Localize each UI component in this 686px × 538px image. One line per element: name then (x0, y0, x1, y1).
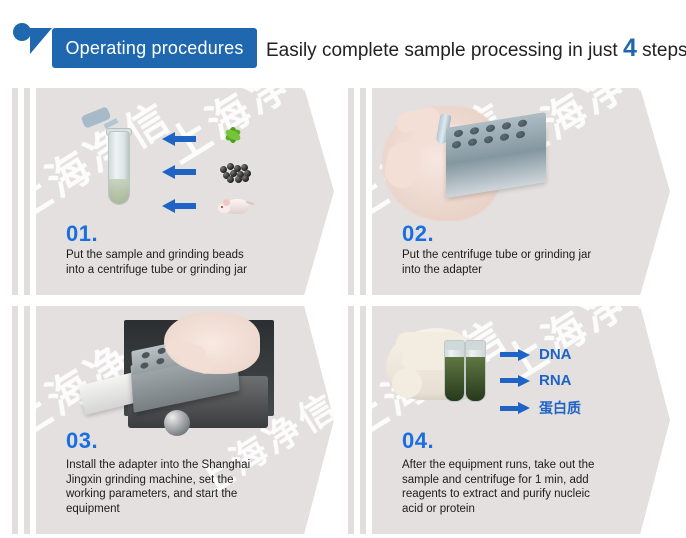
step-description-02: Put the centrifuge tube or grinding jar … (402, 248, 652, 277)
leaf-icon (218, 124, 248, 152)
accent-bar-outer (348, 88, 354, 295)
step-panel-01: 上海净信 上海净信 (36, 88, 334, 295)
sample-vial-icon (444, 340, 465, 402)
hand-icon (164, 312, 260, 374)
arrow-left-icon (162, 165, 196, 178)
operating-procedures-infographic: Operating procedures Easily complete sam… (0, 0, 686, 538)
step-number-03: 03. (66, 428, 98, 454)
accent-bar-inner (360, 88, 366, 295)
header-subtitle: Easily complete sample processing in jus… (266, 30, 686, 69)
step-description-03: Install the adapter into the Shanghai Ji… (66, 458, 306, 516)
step-card-02: 上海净信 上海净信 (348, 88, 670, 295)
grinding-beads-icon (218, 160, 252, 182)
output-label-protein: 蛋白质 (539, 398, 581, 418)
step-description-04: After the equipment runs, take out the s… (402, 458, 652, 516)
step-number-01: 01. (66, 221, 98, 247)
output-label-rna: RNA (539, 372, 572, 389)
input-row-plant (162, 124, 248, 152)
arrow-left-icon (162, 199, 196, 212)
steps-grid: 上海净信 上海净信 (0, 84, 686, 538)
output-row-dna: DNA (500, 346, 572, 363)
output-row-rna: RNA (500, 372, 572, 389)
step-panel-03: 上海净信 上海净信 (36, 306, 334, 534)
step-description-01: Put the sample and grinding beads into a… (66, 248, 316, 277)
header-dot-icon (13, 23, 31, 41)
arrow-right-icon (500, 402, 530, 414)
input-row-beads (162, 160, 252, 182)
accent-bar-outer (12, 306, 18, 534)
output-label-dna: DNA (539, 346, 572, 363)
step-card-03: 上海净信 上海净信 (12, 306, 334, 534)
header-subtitle-post: steps: (637, 40, 686, 61)
step-number-04: 04. (402, 428, 434, 454)
header-subtitle-pre: Easily complete sample processing in jus… (266, 40, 623, 61)
mouse-icon (218, 194, 252, 216)
step-card-01: 上海净信 上海净信 (12, 88, 334, 295)
arrow-right-icon (500, 375, 530, 387)
step-panel-04: 上海净信 上海净信 DNA RNA (372, 306, 670, 534)
step-number-02: 02. (402, 221, 434, 247)
header-banner: Operating procedures (52, 28, 257, 68)
step-card-04: 上海净信 上海净信 DNA RNA (348, 306, 670, 534)
accent-bar-inner (24, 306, 30, 534)
accent-bar-inner (360, 306, 366, 534)
header-banner-tail-icon (30, 28, 52, 54)
accent-bar-outer (348, 306, 354, 534)
accent-bar-outer (12, 88, 18, 295)
sample-vial-icon (465, 340, 486, 402)
header-step-count: 4 (623, 34, 637, 62)
accent-bar-inner (24, 88, 30, 295)
input-row-animal (162, 194, 252, 216)
centrifuge-tube-icon (98, 113, 134, 205)
output-row-protein: 蛋白质 (500, 398, 581, 418)
header: Operating procedures Easily complete sam… (0, 0, 686, 84)
step-panel-02: 上海净信 上海净信 (372, 88, 670, 295)
header-banner-label: Operating procedures (65, 38, 243, 59)
machine-ball-icon (164, 410, 190, 436)
arrow-right-icon (500, 349, 530, 361)
arrow-left-icon (162, 132, 196, 145)
